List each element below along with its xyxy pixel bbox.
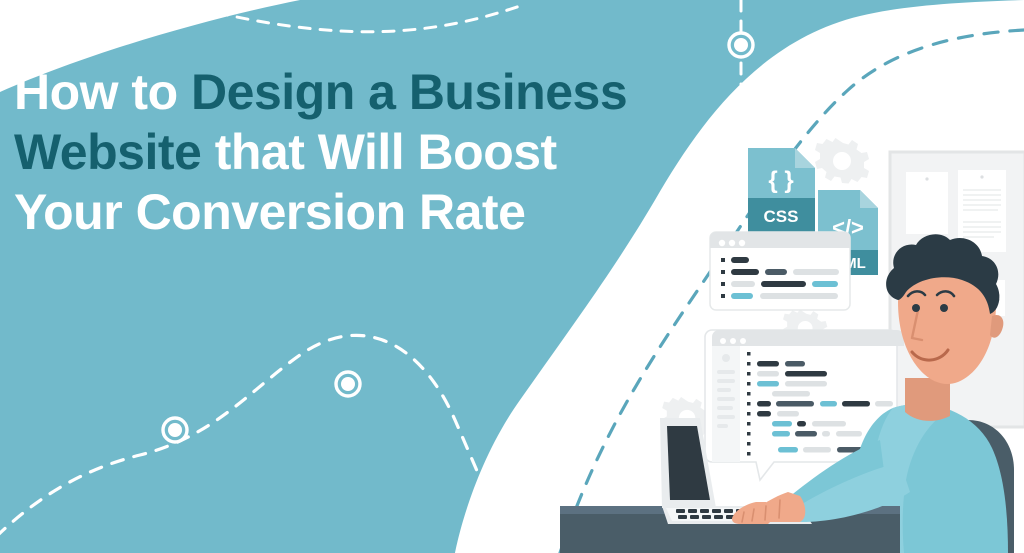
sidebar-avatar-icon	[722, 354, 730, 362]
bubble-dot-3	[740, 338, 746, 344]
window-dot-1	[719, 240, 725, 246]
css-file-fold	[795, 148, 815, 168]
headline-line-1-part-2: Design a Business	[191, 64, 627, 120]
css-file-icon: CSS { }	[748, 148, 815, 232]
headline-line-2-part-2: that Will Boost	[215, 124, 557, 180]
window-dot-3	[739, 240, 745, 246]
code-bubble-sidebar	[712, 346, 740, 462]
window-dot-2	[729, 240, 735, 246]
headline-line-3-part-1: Your Conversion Rate	[14, 184, 525, 240]
pinboard-sheet-1	[906, 172, 948, 234]
person-neck	[905, 378, 950, 421]
html-file-fold	[860, 190, 878, 208]
headline-line-2-part-1: Website	[14, 124, 215, 180]
css-file-label: CSS	[764, 207, 799, 226]
code-bubble-titlebar	[712, 330, 904, 346]
pin-1	[925, 177, 928, 180]
headline-line-1-part-1: How to	[14, 64, 191, 120]
gear-icon-1	[815, 138, 869, 184]
hero-banner: How to Design a Business Website that Wi…	[0, 0, 1024, 553]
person-eye-left	[912, 304, 920, 312]
code-window-top	[710, 232, 850, 310]
headline: How to Design a Business Website that Wi…	[14, 66, 694, 246]
headline-line-3: Your Conversion Rate	[14, 186, 694, 246]
pin-2	[980, 175, 983, 178]
person-eye-right	[940, 304, 948, 312]
headline-line-2: Website that Will Boost	[14, 126, 694, 186]
css-file-glyph: { }	[768, 167, 793, 194]
bubble-dot-1	[720, 338, 726, 344]
bubble-dot-2	[730, 338, 736, 344]
headline-line-1: How to Design a Business	[14, 66, 694, 126]
